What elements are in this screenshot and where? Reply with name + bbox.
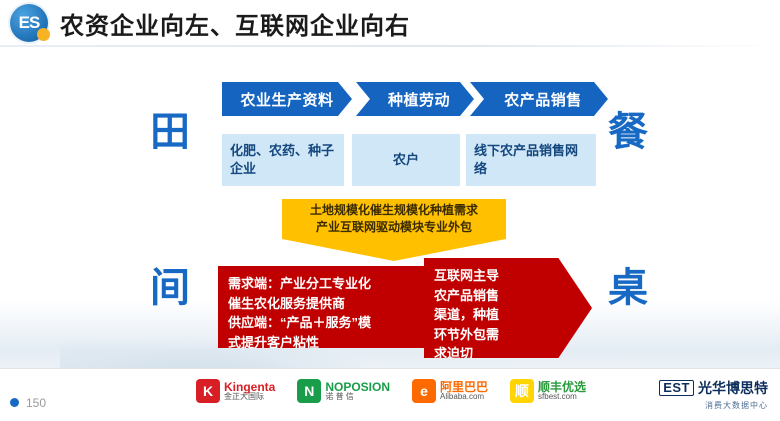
side-label-bottom-right: 桌 <box>608 268 648 308</box>
people-circle-logo-icon: ES <box>10 4 50 42</box>
company-logo: EST 光华博思特 消费大数据中心 <box>659 378 768 411</box>
kingenta-logo-icon: K Kingenta 金正大国际 <box>196 374 275 408</box>
side-label-top-left: 田 <box>150 112 190 152</box>
company-name: 光华博思特 <box>698 378 768 398</box>
company-est-mark: EST <box>659 380 694 396</box>
alibaba-subname: Alibaba.com <box>440 393 488 401</box>
side-label-top-right: 餐 <box>608 112 648 152</box>
noposion-subname: 诺 普 信 <box>325 393 390 401</box>
page-bullet-icon <box>10 398 19 407</box>
alibaba-names: 阿里巴巴 Alibaba.com <box>440 381 488 402</box>
flow-player-3: 线下农产品销售网络 <box>466 134 596 186</box>
flow-stage-3: 农产品销售 <box>470 82 608 116</box>
conclusion-left-line-1: 需求端：产业分工专业化 <box>228 274 416 294</box>
brand-logo-row: K Kingenta 金正大国际 N NOPOSION 诺 普 信 e 阿里巴巴… <box>196 372 616 410</box>
conclusion-left-line-3: 供应端：“产品＋服务”模 <box>228 313 416 333</box>
callout-line-1: 土地规模化催生规模化种植需求 <box>310 202 478 219</box>
logo-accent-dot <box>37 28 50 41</box>
callout-arrow-icon <box>282 239 506 261</box>
flow-stage-1: 农业生产资料 <box>222 82 352 116</box>
kingenta-subname: 金正大国际 <box>224 393 275 401</box>
noposion-logo-icon: N NOPOSION 诺 普 信 <box>297 374 390 408</box>
side-label-bottom-left: 间 <box>150 268 190 308</box>
conclusion-right-line-2: 农产品销售 <box>434 286 562 306</box>
flow-player-2: 农户 <box>352 134 460 186</box>
callout-line-2: 产业互联网驱动模块专业外包 <box>316 219 472 236</box>
conclusion-right-line-3: 渠道，种植 <box>434 305 562 325</box>
kingenta-mark: K <box>196 379 220 403</box>
sfbest-mark: 顺 <box>510 379 534 403</box>
kingenta-names: Kingenta 金正大国际 <box>224 381 275 402</box>
sfbest-names: 顺丰优选 sfbest.com <box>538 381 586 402</box>
flow-stage-2: 种植劳动 <box>356 82 474 116</box>
company-tagline: 消费大数据中心 <box>659 400 768 411</box>
conclusion-right-line-4: 环节外包需 <box>434 325 562 345</box>
sfbest-subname: sfbest.com <box>538 393 586 401</box>
noposion-mark: N <box>297 379 321 403</box>
header-divider <box>0 45 780 47</box>
page-number: 150 <box>26 396 46 410</box>
company-logo-row: EST 光华博思特 <box>659 378 768 398</box>
conclusion-right-inner: 互联网主导 农产品销售 渠道，种植 环节外包需 求迫切 <box>434 266 562 364</box>
flow-player-1: 化肥、农药、种子企业 <box>222 134 344 186</box>
slide-root: ES 农资企业向左、互联网企业向右 田 间 餐 桌 农业生产资料 种植劳动 农产… <box>0 0 780 421</box>
conclusion-left: 需求端：产业分工专业化 催生农化服务提供商 供应端：“产品＋服务”模 式提升客户… <box>218 266 426 348</box>
alibaba-logo-icon: e 阿里巴巴 Alibaba.com <box>412 374 488 408</box>
callout-banner: 土地规模化催生规模化种植需求 产业互联网驱动模块专业外包 <box>282 199 506 239</box>
page-title: 农资企业向左、互联网企业向右 <box>60 6 410 41</box>
slide-header: ES 农资企业向左、互联网企业向右 <box>0 0 780 46</box>
alibaba-mark: e <box>412 379 436 403</box>
conclusion-right: 互联网主导 农产品销售 渠道，种植 环节外包需 求迫切 <box>424 258 592 358</box>
sfbest-logo-icon: 顺 顺丰优选 sfbest.com <box>510 374 586 408</box>
noposion-names: NOPOSION 诺 普 信 <box>325 381 390 402</box>
conclusion-right-line-1: 互联网主导 <box>434 266 562 286</box>
conclusion-left-line-2: 催生农化服务提供商 <box>228 294 416 314</box>
